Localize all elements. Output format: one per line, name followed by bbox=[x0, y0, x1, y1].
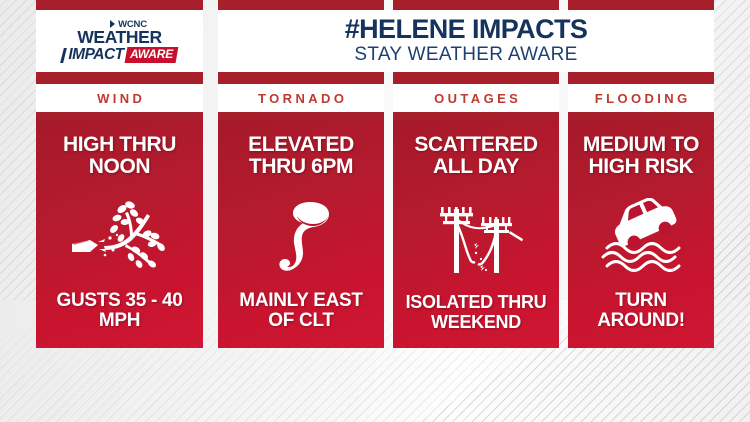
card-tornado: ELEVATED THRU 6PM MAINLY EAST OF CLT bbox=[218, 120, 384, 348]
card-top-text: SCATTERED ALL DAY bbox=[399, 134, 553, 178]
divider-seg-4 bbox=[568, 72, 714, 84]
card-top-text: HIGH THRU NOON bbox=[42, 134, 197, 178]
column-header-outages: OUTAGES bbox=[393, 84, 559, 112]
column-tornado[interactable]: TORNADO ELEVATED THRU 6PM MAINLY EAST OF… bbox=[218, 84, 384, 348]
car-in-floodwater-icon bbox=[574, 178, 708, 291]
card-bottom-text: ISOLATED THRU WEEKEND bbox=[399, 293, 553, 336]
column-header-label: FLOODING bbox=[591, 91, 690, 106]
logo-impact-aware-row: IMPACT AWARE bbox=[54, 47, 186, 63]
top-rule bbox=[36, 0, 714, 10]
card-outages: SCATTERED ALL DAY bbox=[393, 120, 559, 348]
card-flooding: MEDIUM TO HIGH RISK bbox=[568, 120, 714, 348]
column-rule-tornado bbox=[218, 112, 384, 120]
card-bottom-text: GUSTS 35 - 40 MPH bbox=[42, 291, 197, 336]
column-rule-outages bbox=[393, 112, 559, 120]
card-bottom-text: MAINLY EAST OF CLT bbox=[224, 291, 378, 336]
column-header-label: WIND bbox=[94, 91, 146, 106]
card-bottom-text: TURN AROUND! bbox=[574, 291, 708, 336]
logo-aware-word: AWARE bbox=[130, 48, 173, 62]
column-header-tornado: TORNADO bbox=[218, 84, 384, 112]
wcnc-logo: WCNC WEATHER IMPACT AWARE bbox=[36, 10, 203, 72]
broken-tree-branch-icon bbox=[42, 178, 197, 291]
column-header-label: OUTAGES bbox=[431, 91, 522, 106]
column-header-flooding: FLOODING bbox=[568, 84, 714, 112]
page-title: #HELENE IMPACTS bbox=[345, 16, 588, 44]
column-outages[interactable]: OUTAGES SCATTERED ALL DAY bbox=[393, 84, 559, 348]
column-header-label: TORNADO bbox=[255, 91, 348, 106]
top-rule-seg-3 bbox=[393, 0, 559, 10]
logo-aware-badge: AWARE bbox=[124, 47, 178, 63]
divider-seg-1 bbox=[36, 72, 203, 84]
column-header-wind: WIND bbox=[36, 84, 203, 112]
logo-weather-word: WEATHER bbox=[54, 29, 186, 47]
divider-seg-3 bbox=[393, 72, 559, 84]
downed-power-lines-icon bbox=[399, 178, 553, 293]
column-rule-flooding bbox=[568, 112, 714, 120]
page-subtitle: STAY WEATHER AWARE bbox=[354, 44, 577, 66]
column-flooding[interactable]: FLOODING MEDIUM TO HIGH RISK bbox=[568, 84, 714, 348]
tornado-funnel-icon bbox=[224, 178, 378, 291]
column-rule-wind bbox=[36, 112, 203, 120]
column-wind[interactable]: WIND HIGH THRU NOON bbox=[36, 84, 203, 348]
logo-slash-icon bbox=[60, 48, 67, 63]
top-rule-seg-2 bbox=[218, 0, 384, 10]
top-rule-seg-1 bbox=[36, 0, 203, 10]
card-top-text: ELEVATED THRU 6PM bbox=[224, 134, 378, 178]
title-divider bbox=[36, 72, 714, 84]
card-wind: HIGH THRU NOON bbox=[36, 120, 203, 348]
logo-impact-word: IMPACT bbox=[68, 47, 123, 63]
weather-impact-graphic: WCNC WEATHER IMPACT AWARE #HELENE IMPACT… bbox=[36, 0, 714, 348]
title-block: #HELENE IMPACTS STAY WEATHER AWARE bbox=[218, 10, 714, 72]
card-top-text: MEDIUM TO HIGH RISK bbox=[574, 134, 708, 178]
top-rule-seg-4 bbox=[568, 0, 714, 10]
divider-seg-2 bbox=[218, 72, 384, 84]
